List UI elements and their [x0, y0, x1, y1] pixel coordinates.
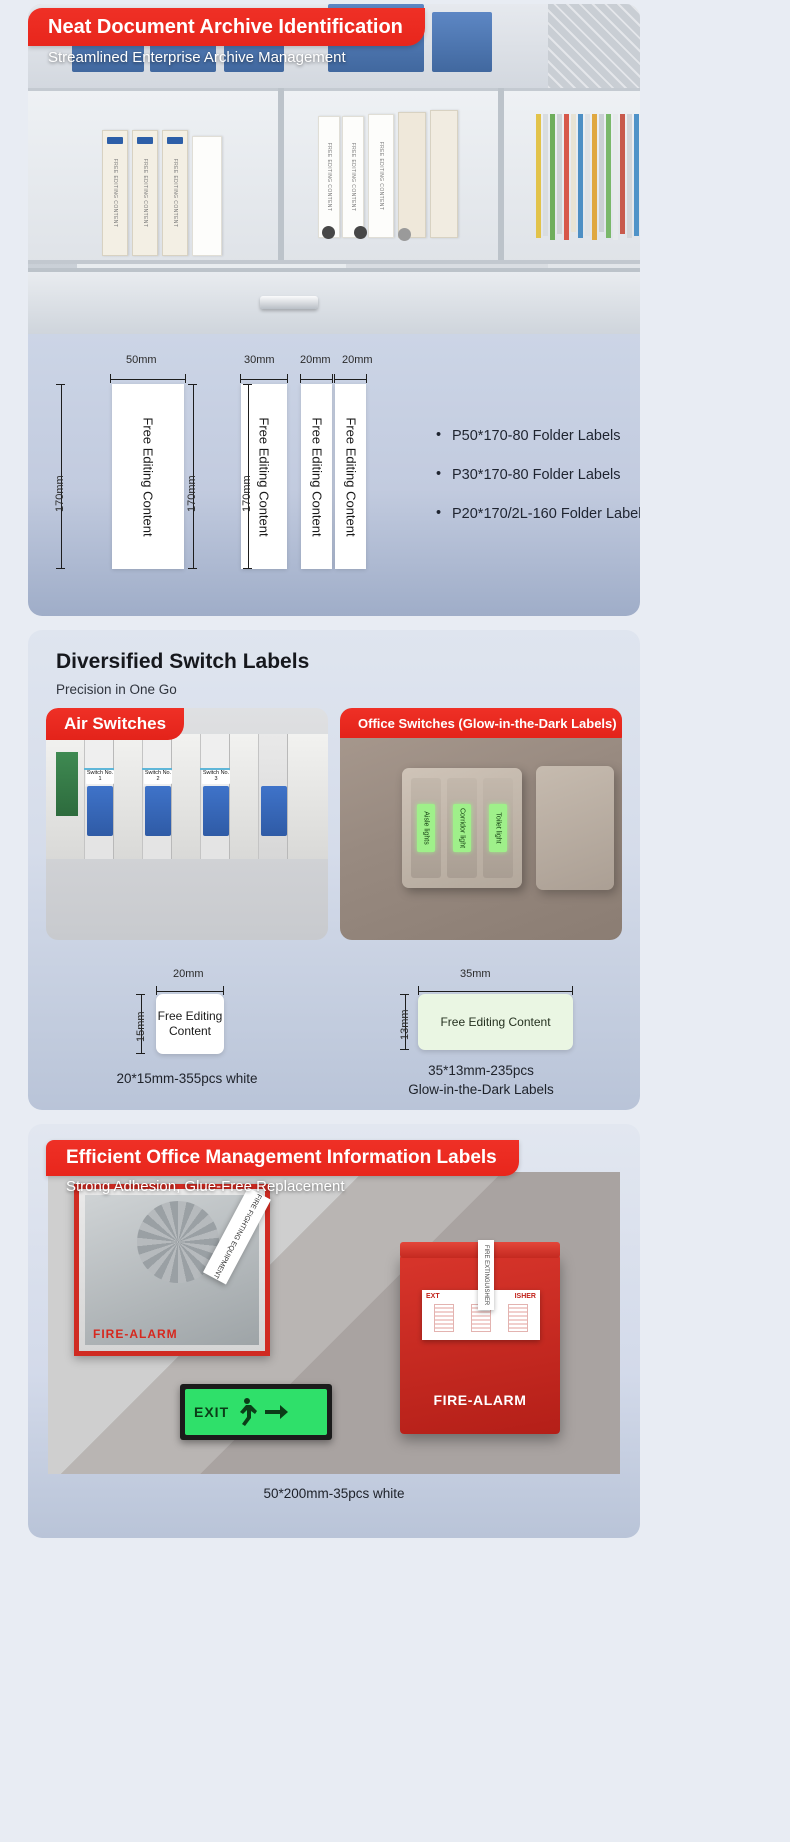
binder-label: FREE EDITING CONTENT: [172, 159, 178, 228]
section-switch-labels: Diversified Switch Labels Precision in O…: [28, 630, 640, 1110]
fire-equipment-photo: FIRE-ALARM FIRE FIGHTING EQUIPMENT EXIT: [48, 1172, 620, 1474]
binder: FREE EDITING CONTENT: [368, 114, 394, 238]
cabinet-text: FIRE-ALARM: [93, 1327, 178, 1341]
blank-plate: [536, 766, 614, 890]
breaker-label-2: Switch No. 2: [144, 770, 172, 784]
binder-label: FREE EDITING CONTENT: [142, 159, 148, 228]
glow-label-3: Toilet light: [489, 804, 507, 852]
binder: FREE EDITING CONTENT: [132, 130, 158, 256]
air-switch-label-sample: Free Editing Content: [156, 994, 224, 1054]
dim-width-3: 20mm: [300, 354, 331, 366]
dim-bar-width-3: [300, 374, 333, 383]
dim-bar-width-4: [334, 374, 367, 383]
office-caption-line1: 35*13mm-235pcs: [340, 1062, 622, 1081]
vertical-tag-text: FIRE EXTINGUISHER: [483, 1245, 489, 1305]
dim-bar-width-2: [240, 374, 288, 383]
dim-width-1: 50mm: [126, 354, 157, 366]
fire-alarm-box: EXT ISHER FIRE EXTINGUISHER FIRE-ALARM: [400, 1254, 560, 1434]
office-switch-badge: Office Switches (Glow-in-the-Dark Labels…: [340, 708, 622, 738]
section3-subtitle: Strong Adhesion, Glue-Free Replacement: [66, 1178, 345, 1195]
bullet-item: P30*170-80 Folder Labels: [436, 467, 640, 483]
binder-ring: [322, 226, 335, 239]
folder-label-text: Free Editing Content: [141, 417, 156, 536]
office-switch-caption: 35*13mm-235pcs Glow-in-the-Dark Labels: [340, 1062, 622, 1100]
folder-label-text: Free Editing Content: [309, 417, 324, 536]
exit-sign: EXIT: [180, 1384, 332, 1440]
breaker-2: Switch No. 2: [142, 734, 172, 859]
ext-label-left: EXT: [426, 1293, 440, 1300]
section3-caption: 50*200mm-35pcs white: [28, 1486, 640, 1501]
breaker-lever: [87, 786, 113, 836]
folder-label-strip-3: Free Editing Content: [301, 384, 332, 569]
folder-label-strip-1: Free Editing Content: [112, 384, 184, 569]
binder-ring: [398, 228, 411, 241]
folder-label-text: Free Editing Content: [257, 417, 272, 536]
breaker-lever: [145, 786, 171, 836]
section1-subtitle: Streamlined Enterprise Archive Managemen…: [48, 49, 346, 66]
binder-label: FREE EDITING CONTENT: [112, 159, 118, 228]
binder-band: [137, 137, 153, 144]
folder-label-strip-4: Free Editing Content: [335, 384, 366, 569]
binder-label: FREE EDITING CONTENT: [378, 142, 384, 211]
binder-label: FREE EDITING CONTENT: [326, 143, 332, 212]
book-row: [536, 114, 640, 240]
bullet-item: P20*170/2L-160 Folder Labels: [436, 506, 640, 522]
breaker-lever: [261, 786, 287, 836]
office-switch-panel: Aisle lights Corridor light Toilet light…: [340, 708, 622, 940]
pcb-module: [56, 752, 78, 816]
binder: [430, 110, 458, 238]
dim-height-air: 15mm: [135, 1011, 147, 1042]
binder-band: [167, 137, 183, 144]
binder: FREE EDITING CONTENT: [342, 116, 364, 238]
glow-label-1: Aisle lights: [417, 804, 435, 852]
dim-width-air: 20mm: [173, 968, 204, 980]
switch-plate: Aisle lights Corridor light Toilet light: [402, 768, 522, 888]
office-switch-photo: Aisle lights Corridor light Toilet light: [340, 708, 622, 940]
dim-height-3: 170mm: [241, 475, 253, 512]
dim-height-1: 170mm: [54, 475, 66, 512]
binder-ring: [354, 226, 367, 239]
breaker-label-3: Switch No. 3: [202, 770, 230, 784]
dim-height-office: 13mm: [399, 1009, 411, 1040]
breaker-3: Switch No. 3: [200, 734, 230, 859]
office-caption-line2: Glow-in-the-Dark Labels: [340, 1081, 622, 1100]
binder: FREE EDITING CONTENT: [162, 130, 188, 256]
glow-label-text: Aisle lights: [423, 811, 430, 844]
running-man-icon: [234, 1397, 260, 1427]
air-switch-panel: Switch No. 1 Switch No. 2 Switch No. 3 A…: [46, 708, 328, 940]
exit-sign-inner: EXIT: [185, 1389, 327, 1435]
dim-width-office: 35mm: [460, 968, 491, 980]
air-switch-caption: 20*15mm-355pcs white: [46, 1070, 328, 1089]
office-switch-label-sample: Free Editing Content: [418, 994, 573, 1050]
dim-bar-width-1: [110, 374, 186, 383]
shelf-edge: [28, 260, 640, 264]
folder-label-bullet-list: P50*170-80 Folder Labels P30*170-80 Fold…: [436, 428, 640, 545]
section2-title: Diversified Switch Labels: [56, 650, 309, 674]
section-office-management: FIRE-ALARM FIRE FIGHTING EQUIPMENT EXIT: [28, 1124, 640, 1538]
shelf-divider: [278, 88, 284, 264]
breaker-4: [258, 734, 288, 859]
accent-stripe: [142, 768, 172, 770]
folder-label-text: Free Editing Content: [343, 417, 358, 536]
fire-alarm-box-text: FIRE-ALARM: [400, 1392, 560, 1408]
binder: FREE EDITING CONTENT: [102, 130, 128, 256]
section2-subtitle: Precision in One Go: [56, 682, 177, 697]
drawer-handle: [260, 296, 318, 309]
dim-height-2: 170mm: [186, 475, 198, 512]
section1-banner: Neat Document Archive Identification: [28, 8, 425, 46]
glow-label-text: Toilet light: [495, 812, 502, 843]
binder: [192, 136, 222, 256]
dim-width-2: 30mm: [244, 354, 275, 366]
breaker-lever: [203, 786, 229, 836]
binder-label: FREE EDITING CONTENT: [350, 143, 356, 212]
accent-stripe: [200, 768, 230, 770]
arrow-right-icon: [265, 1404, 289, 1420]
binder: [398, 112, 426, 238]
binder: FREE EDITING CONTENT: [318, 116, 340, 238]
section-document-archive: FREE EDITING CONTENT FREE EDITING CONTEN…: [28, 4, 640, 616]
section3-banner: Efficient Office Management Information …: [46, 1140, 519, 1176]
breaker-label-1: Switch No. 1: [86, 770, 114, 784]
exit-sign-text: EXIT: [194, 1404, 229, 1420]
storage-box: [432, 12, 492, 72]
shelf-divider: [498, 88, 504, 264]
dim-width-4: 20mm: [342, 354, 373, 366]
breaker-1: Switch No. 1: [84, 734, 114, 859]
accent-stripe: [84, 768, 114, 770]
air-switch-badge: Air Switches: [46, 708, 184, 740]
ext-label-right: ISHER: [515, 1293, 536, 1300]
cabinet-bottom: [28, 268, 640, 334]
glow-label-text: Corridor light: [459, 808, 466, 848]
glow-label-2: Corridor light: [453, 804, 471, 852]
air-switch-photo: Switch No. 1 Switch No. 2 Switch No. 3: [46, 708, 328, 940]
binder-band: [107, 137, 123, 144]
mesh-panel: [548, 4, 640, 88]
bullet-item: P50*170-80 Folder Labels: [436, 428, 640, 444]
vertical-tag-label: FIRE EXTINGUISHER: [478, 1240, 494, 1310]
